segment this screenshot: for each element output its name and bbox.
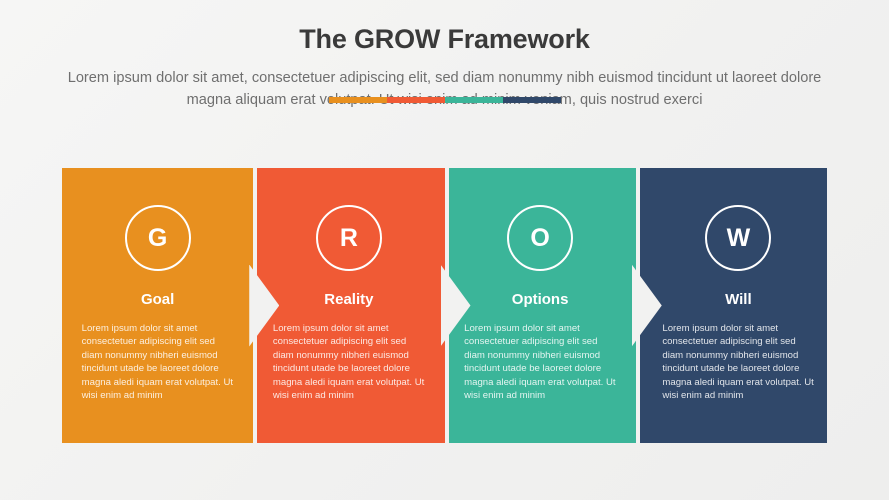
letter-badge-circle: G xyxy=(125,205,191,271)
panel-letter: O xyxy=(530,226,549,251)
panel-reality[interactable]: R Reality Lorem ipsum dolor sit amet con… xyxy=(253,168,444,443)
panel-options[interactable]: O Options Lorem ipsum dolor sit amet con… xyxy=(445,168,636,443)
letter-badge-circle: O xyxy=(507,205,573,271)
letter-badge-circle: W xyxy=(705,205,771,271)
panel-letter: W xyxy=(727,226,751,251)
panel-will[interactable]: W Will Lorem ipsum dolor sit amet consec… xyxy=(636,168,827,443)
divider-segment-3 xyxy=(445,97,503,103)
panel-description: Lorem ipsum dolor sit amet consectetuer … xyxy=(464,322,616,402)
panel-description: Lorem ipsum dolor sit amet consectetuer … xyxy=(273,322,425,402)
accent-divider-bar xyxy=(329,97,561,103)
panel-description: Lorem ipsum dolor sit amet consectetuer … xyxy=(662,322,814,402)
letter-badge-circle: R xyxy=(316,205,382,271)
panel-goal[interactable]: G Goal Lorem ipsum dolor sit amet consec… xyxy=(62,168,253,443)
grow-panels: G Goal Lorem ipsum dolor sit amet consec… xyxy=(62,168,827,443)
panel-title: Goal xyxy=(141,290,174,309)
divider-segment-1 xyxy=(329,97,387,103)
divider-segment-4 xyxy=(503,97,561,103)
panel-title: Reality xyxy=(324,290,373,309)
panel-title: Will xyxy=(725,290,752,309)
panel-description: Lorem ipsum dolor sit amet consectetuer … xyxy=(82,322,234,402)
page-subtitle: Lorem ipsum dolor sit amet, consectetuer… xyxy=(65,67,825,111)
panel-title: Options xyxy=(512,290,569,309)
panel-letter: G xyxy=(148,226,167,251)
panel-letter: R xyxy=(340,226,358,251)
divider-segment-2 xyxy=(387,97,445,103)
slide-canvas: The GROW Framework Lorem ipsum dolor sit… xyxy=(0,0,889,500)
page-title: The GROW Framework xyxy=(0,22,889,56)
